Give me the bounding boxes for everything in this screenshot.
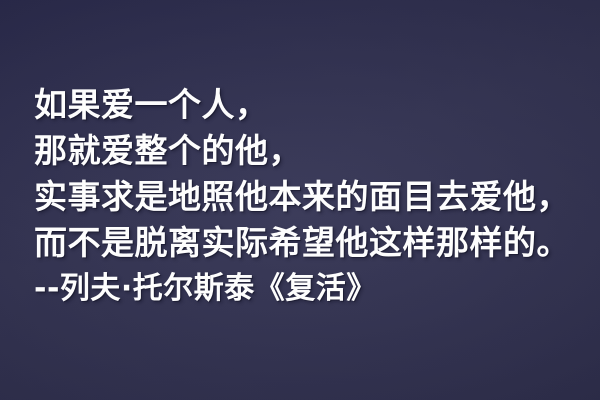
quote-card: 如果爱一个人， 那就爱整个的他， 实事求是地照他本来的面目去爱他， 而不是脱离实… — [0, 0, 600, 400]
quote-attribution: --列夫·托尔斯泰《复活》 — [34, 266, 594, 312]
quote-line-3: 实事求是地照他本来的面目去爱他， — [34, 174, 594, 220]
quote-line-4: 而不是脱离实际希望他这样那样的。 — [34, 220, 594, 266]
quote-line-1: 如果爱一个人， — [34, 82, 594, 128]
quote-line-2: 那就爱整个的他， — [34, 128, 594, 174]
quote-text-block: 如果爱一个人， 那就爱整个的他， 实事求是地照他本来的面目去爱他， 而不是脱离实… — [34, 82, 594, 312]
